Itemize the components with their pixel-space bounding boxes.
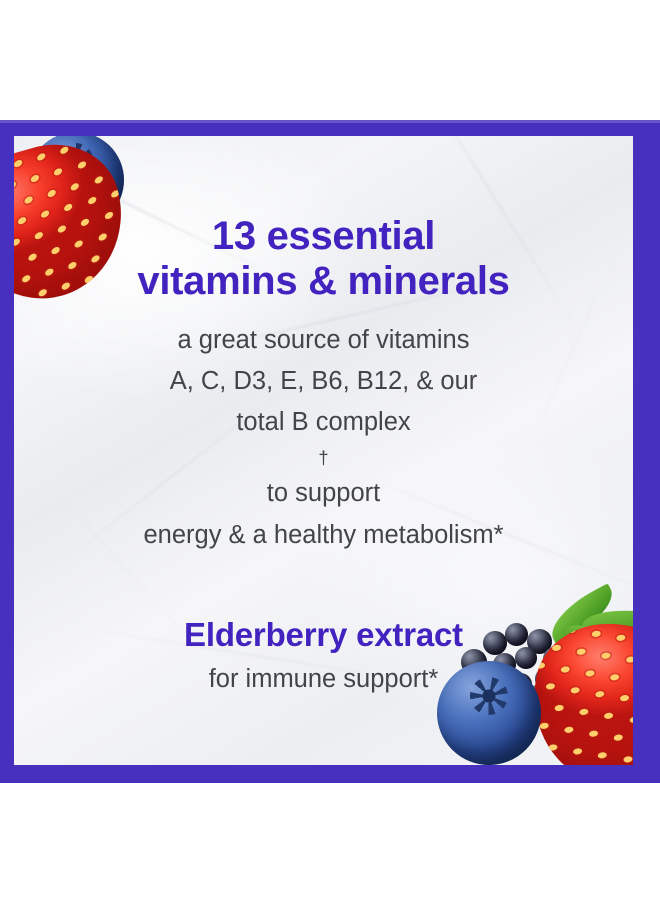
marble-panel: 13 essential vitamins & minerals a great… [14,136,633,765]
primary-body-line1: a great source of vitamins [143,320,503,361]
primary-body-copy: a great source of vitamins A, C, D3, E, … [143,320,503,556]
content-stack: 13 essential vitamins & minerals a great… [14,136,633,765]
primary-heading-line2: vitamins & minerals [137,259,509,304]
secondary-body-copy: for immune support* [209,665,439,694]
secondary-heading: Elderberry extract [184,616,463,654]
primary-body-line3-post: to support [143,473,503,514]
primary-body-line4: energy & a healthy metabolism* [143,515,503,556]
primary-body-line2: A, C, D3, E, B6, B12, & our [143,361,503,402]
primary-heading: 13 essential vitamins & minerals [137,214,509,304]
dagger-symbol: † [143,443,503,473]
primary-heading-line1: 13 essential [212,214,435,258]
primary-body-line3-pre: total B complex [143,402,503,443]
primary-body-line3: total B complex† to support [143,402,503,514]
product-graphic-canvas: 13 essential vitamins & minerals a great… [0,0,660,900]
